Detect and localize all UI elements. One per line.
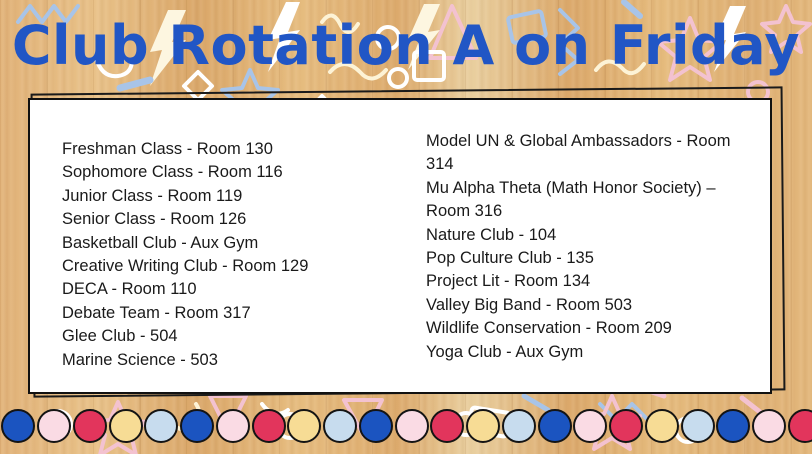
decorative-dot <box>502 409 536 443</box>
list-item: Freshman Class - Room 130 <box>62 138 378 161</box>
decorative-dot <box>645 409 679 443</box>
decorative-dot <box>466 409 500 443</box>
slide-canvas: Club Rotation A on Friday Freshman Class… <box>0 0 812 454</box>
decorative-dot <box>144 409 178 443</box>
clubs-panel: Freshman Class - Room 130 Sophomore Clas… <box>28 92 780 396</box>
decorative-dot <box>252 409 286 443</box>
decorative-dot <box>752 409 786 443</box>
decorative-dot <box>359 409 393 443</box>
decorative-dot <box>788 409 812 443</box>
decorative-dot <box>216 409 250 443</box>
decorative-dot <box>1 409 35 443</box>
list-item: Yoga Club - Aux Gym <box>426 341 756 364</box>
decorative-dot <box>681 409 715 443</box>
list-item: Pop Culture Club - 135 <box>426 247 756 270</box>
list-item: Creative Writing Club - Room 129 <box>62 255 378 278</box>
list-item: Nature Club - 104 <box>426 224 756 247</box>
list-item: Debate Team - Room 317 <box>62 302 378 325</box>
clubs-columns: Freshman Class - Room 130 Sophomore Clas… <box>30 100 770 392</box>
panel-surface: Freshman Class - Room 130 Sophomore Clas… <box>28 98 772 394</box>
decorative-dot <box>37 409 71 443</box>
decorative-dot <box>430 409 464 443</box>
decorative-dot <box>180 409 214 443</box>
page-title: Club Rotation A on Friday <box>0 14 812 77</box>
list-item: Valley Big Band - Room 503 <box>426 294 756 317</box>
clubs-column-left: Freshman Class - Room 130 Sophomore Clas… <box>30 100 378 392</box>
list-item: Wildlife Conservation - Room 209 <box>426 317 756 340</box>
decorative-dot <box>323 409 357 443</box>
list-item: Project Lit - Room 134 <box>426 270 756 293</box>
decorative-dot <box>109 409 143 443</box>
list-item: Junior Class - Room 119 <box>62 185 378 208</box>
list-item: Mu Alpha Theta (Math Honor Society) – Ro… <box>426 177 756 224</box>
list-item: Basketball Club - Aux Gym <box>62 232 378 255</box>
list-item: Senior Class - Room 126 <box>62 208 378 231</box>
list-item: Sophomore Class - Room 116 <box>62 161 378 184</box>
decorative-dot <box>609 409 643 443</box>
decorative-dot <box>287 409 321 443</box>
decorative-dot <box>538 409 572 443</box>
list-item: Model UN & Global Ambassadors - Room 314 <box>426 130 756 177</box>
decorative-dot-strip <box>0 404 812 454</box>
decorative-dot <box>716 409 750 443</box>
decorative-dot <box>73 409 107 443</box>
list-item: Marine Science - 503 <box>62 349 378 372</box>
list-item: Glee Club - 504 <box>62 325 378 348</box>
clubs-column-right: Model UN & Global Ambassadors - Room 314… <box>378 100 770 392</box>
decorative-dot <box>573 409 607 443</box>
list-item: DECA - Room 110 <box>62 278 378 301</box>
decorative-dot <box>395 409 429 443</box>
